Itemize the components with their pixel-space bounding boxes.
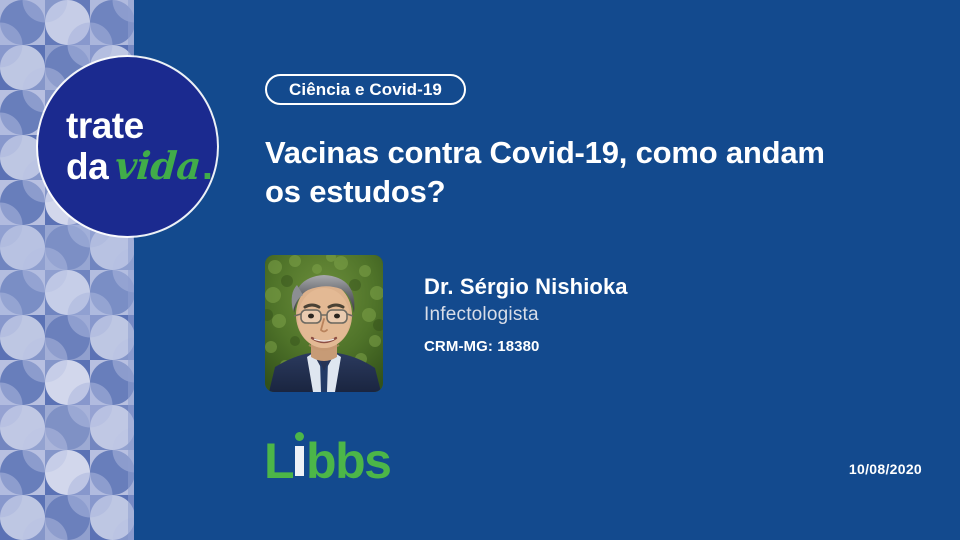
- speaker-avatar: [265, 255, 383, 392]
- speaker-credential: CRM-MG: 18380: [424, 338, 628, 355]
- speaker-role: Infectologista: [424, 302, 628, 328]
- page-title: Vacinas contra Covid-19, como andam os e…: [265, 133, 825, 212]
- topic-badge-label: Ciência e Covid-19: [289, 80, 442, 100]
- portrait-photo: [265, 255, 383, 392]
- webinar-slide: trate da vida . Ciência e Covid-19 Vacin…: [0, 0, 960, 540]
- speaker-details: Dr. Sérgio Nishioka Infectologista CRM-M…: [424, 255, 628, 355]
- speaker-name: Dr. Sérgio Nishioka: [424, 275, 628, 299]
- slide-date: 10/08/2020: [849, 461, 922, 477]
- brand-word-vida: vida: [114, 148, 202, 184]
- libbs-logo-suffix: bbs: [306, 436, 390, 486]
- topic-badge: Ciência e Covid-19: [265, 74, 466, 105]
- libbs-logo-i-glyph: [293, 428, 306, 478]
- brand-line-da-vida: da vida .: [66, 147, 217, 185]
- libbs-i-dot: [295, 432, 304, 441]
- brand-logo-text: trate da vida .: [38, 57, 217, 236]
- speaker-block: Dr. Sérgio Nishioka Infectologista CRM-M…: [265, 255, 628, 392]
- trate-da-vida-logo: trate da vida .: [38, 57, 217, 236]
- libbs-i-stem: [295, 446, 304, 476]
- libbs-logo: L bbs: [264, 428, 390, 486]
- brand-dot: .: [202, 147, 213, 185]
- brand-line-trate: trate: [66, 108, 217, 143]
- brand-word-da: da: [66, 149, 108, 184]
- libbs-logo-prefix: L: [264, 436, 293, 486]
